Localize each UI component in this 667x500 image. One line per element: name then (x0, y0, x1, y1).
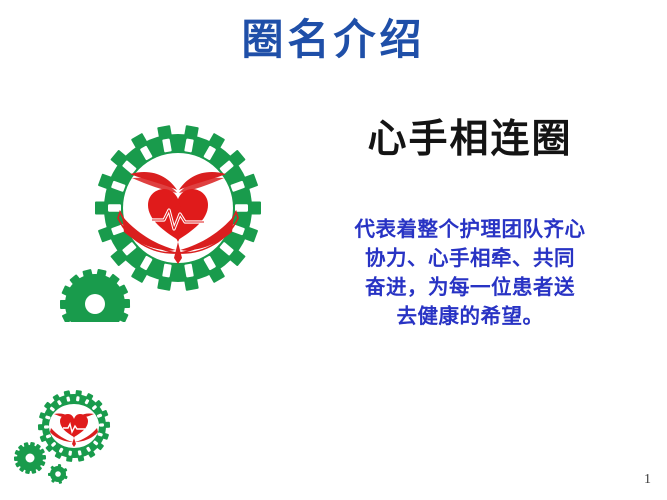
medium-gear-icon (60, 269, 130, 322)
mini-medium-gear-icon (14, 442, 46, 474)
circle-description-line: 代表着整个护理团队齐心 (326, 215, 614, 244)
logo-mini (14, 382, 144, 492)
circle-description-line: 协力、心手相牵、共同 (326, 244, 614, 273)
text-column: 心手相连圈 代表着整个护理团队齐心协力、心手相牵、共同奋进，为每一位患者送去健康… (320, 118, 620, 331)
circle-description-line: 去健康的希望。 (326, 302, 614, 331)
page-title: 圈名介绍 (0, 16, 667, 64)
circle-name-heading: 心手相连圈 (320, 118, 620, 163)
mini-small-gear-icon (48, 464, 68, 484)
circle-description-line: 奋进，为每一位患者送 (326, 273, 614, 302)
circle-description: 代表着整个护理团队齐心协力、心手相牵、共同奋进，为每一位患者送去健康的希望。 (320, 215, 620, 331)
slide-canvas: 圈名介绍 (0, 0, 667, 500)
heart-hands-gear-icon (60, 92, 290, 322)
page-number: 1 (644, 472, 651, 488)
logo-main (60, 92, 290, 322)
heart-hands-gear-small-icon (14, 382, 144, 492)
